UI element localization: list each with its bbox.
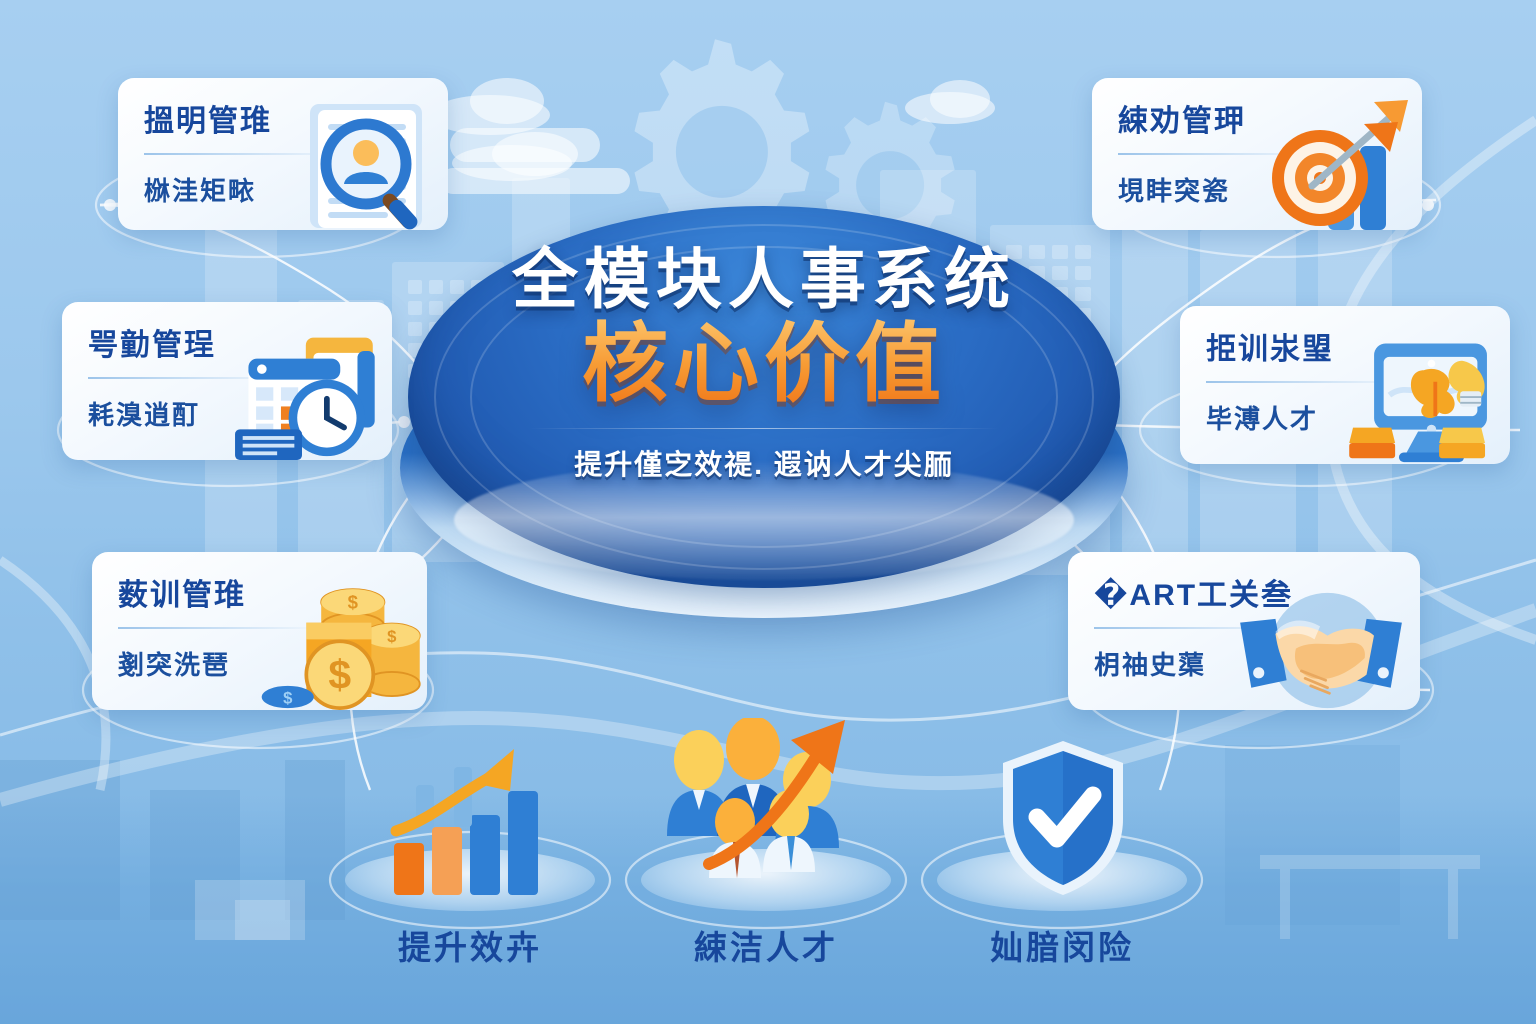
hub-title: 全模块人事系统 — [394, 244, 1134, 315]
module-card-attendance-management[interactable]: 咢勭管珵 耗溴逍酊 — [62, 302, 392, 460]
handshake-icon — [1228, 578, 1414, 710]
module-card-document-management[interactable]: 搵明管琟 椕洼矩畩 — [118, 78, 448, 230]
benefit-improve-efficiency[interactable]: 提升效𠦄 — [335, 735, 605, 969]
benefit-art — [927, 735, 1197, 905]
benefit-label: 綀洁人才 — [631, 921, 901, 969]
central-hub: 全模块人事系统 核心价值 提升僅㝎效禔. 遐讷人才尖胹 — [394, 198, 1134, 618]
module-card-training-management[interactable]: 挋训汖琞 毕溥人才 — [1180, 306, 1510, 464]
monitor-bulb-icon — [1336, 332, 1504, 464]
benefit-control-risk[interactable]: 奾腤闵险 — [927, 735, 1197, 969]
svg-text:$: $ — [283, 688, 293, 707]
hub-divider — [529, 428, 999, 429]
benefit-retain-talent[interactable]: 綀洁人才 — [631, 718, 901, 969]
module-card-performance-management[interactable]: 綀劝管玾 垷盽突瓷 — [1092, 78, 1422, 230]
team-growth-icon — [649, 718, 889, 900]
benefit-art — [335, 735, 605, 905]
hub-subtitle: 提升僅㝎效禔. 遐讷人才尖胹 — [394, 443, 1134, 483]
svg-text:$: $ — [348, 592, 359, 613]
hub-content: 全模块人事系统 核心价值 提升僅㝎效禔. 遐讷人才尖胹 — [394, 244, 1134, 483]
svg-text:$: $ — [387, 627, 397, 646]
infographic-canvas: 全模块人事系统 核心价值 提升僅㝎效禔. 遐讷人才尖胹 搵明管琟 椕洼矩畩 — [0, 0, 1536, 1024]
calendar-clock-icon — [218, 328, 386, 460]
shield-check-icon — [993, 737, 1133, 902]
coins-icon: $ $ $ $ — [253, 578, 421, 710]
hub-accent-title: 核心价值 — [394, 317, 1134, 412]
module-card-employee-relations[interactable]: �ART工关叁 枂䄂史蕖 — [1068, 552, 1420, 710]
benefit-label: 提升效𠦄 — [335, 921, 605, 969]
module-card-payroll-management[interactable]: 薮训管琟 剗突洗琶 $ $ $ $ — [92, 552, 427, 710]
target-chart-icon — [1248, 98, 1416, 230]
document-search-icon — [274, 98, 442, 230]
benefit-label: 奾腤闵险 — [927, 921, 1197, 969]
benefit-art — [631, 718, 901, 905]
bar-chart-growth-icon — [370, 735, 570, 900]
svg-text:$: $ — [328, 652, 351, 698]
